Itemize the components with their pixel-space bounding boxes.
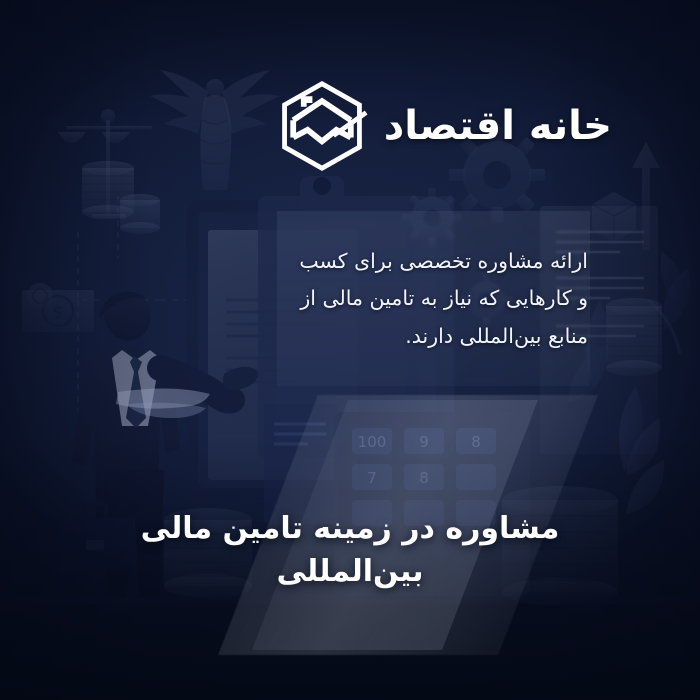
- brand-wordmark: خانه اقتصاد: [384, 106, 612, 146]
- headline-line-2: بین‌المللی: [40, 551, 660, 594]
- headline-line-1: مشاوره در زمینه تامین مالی: [141, 511, 560, 546]
- description-paragraph: ارائه مشاوره تخصصی برای کسب و کارهایی که…: [283, 243, 588, 357]
- hexagon-house-chart-logo-icon: [274, 78, 370, 174]
- promotional-banner: $ $: [0, 0, 700, 700]
- page-title: مشاوره در زمینه تامین مالی بین‌المللی: [0, 508, 700, 593]
- brand-logo[interactable]: خانه اقتصاد: [274, 78, 612, 174]
